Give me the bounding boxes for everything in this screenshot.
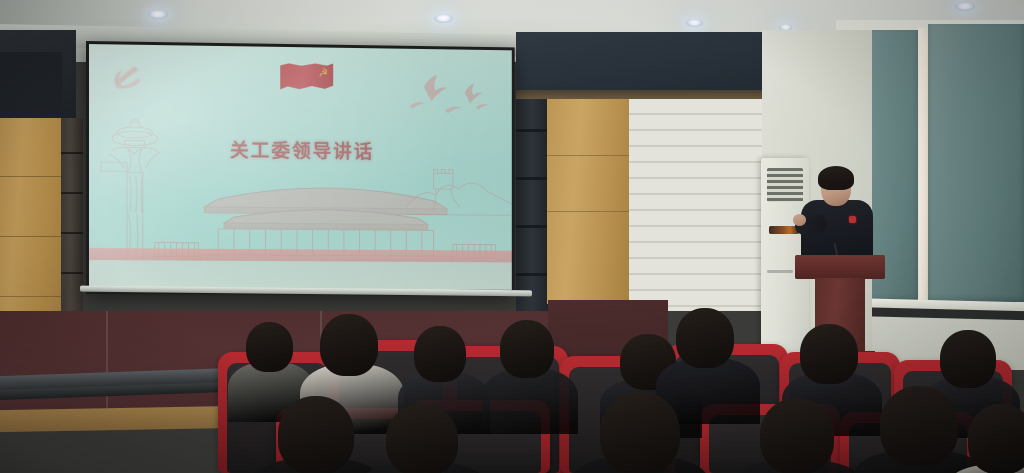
flag-emblem-icon: ☭ (318, 68, 329, 79)
wall-column-dark-mid (516, 99, 548, 311)
downlight-icon (434, 14, 453, 23)
ac-outlet-slit (767, 270, 793, 273)
projection-screen: ☭ (89, 44, 512, 290)
downlight-icon (148, 10, 168, 19)
speaker-hand (793, 214, 806, 226)
downlight-icon (686, 19, 703, 27)
wall-panel-slatted (629, 99, 762, 311)
downlight-icon (955, 2, 975, 11)
window-light-gap (918, 28, 927, 302)
projection-screen-frame: ☭ (86, 41, 515, 296)
audience-area (0, 300, 1024, 473)
wall-panel-dark-left-2 (0, 52, 62, 126)
doves-icon (397, 68, 504, 121)
speaker-lapel-badge (849, 216, 856, 223)
wall-panel-wood-mid (547, 99, 629, 304)
great-wall-icon (406, 159, 511, 237)
podium-top (795, 255, 885, 279)
party-emblem-icon (107, 58, 145, 96)
window-blind[interactable] (928, 24, 1024, 302)
auditorium-photo: ☭ (0, 0, 1024, 473)
audience-member (0, 300, 1024, 473)
audience-head (968, 404, 1024, 473)
speaker-hair (818, 166, 854, 190)
acoustic-panel-upper (516, 32, 776, 96)
slide-title: 关工委领导讲话 (89, 134, 512, 165)
